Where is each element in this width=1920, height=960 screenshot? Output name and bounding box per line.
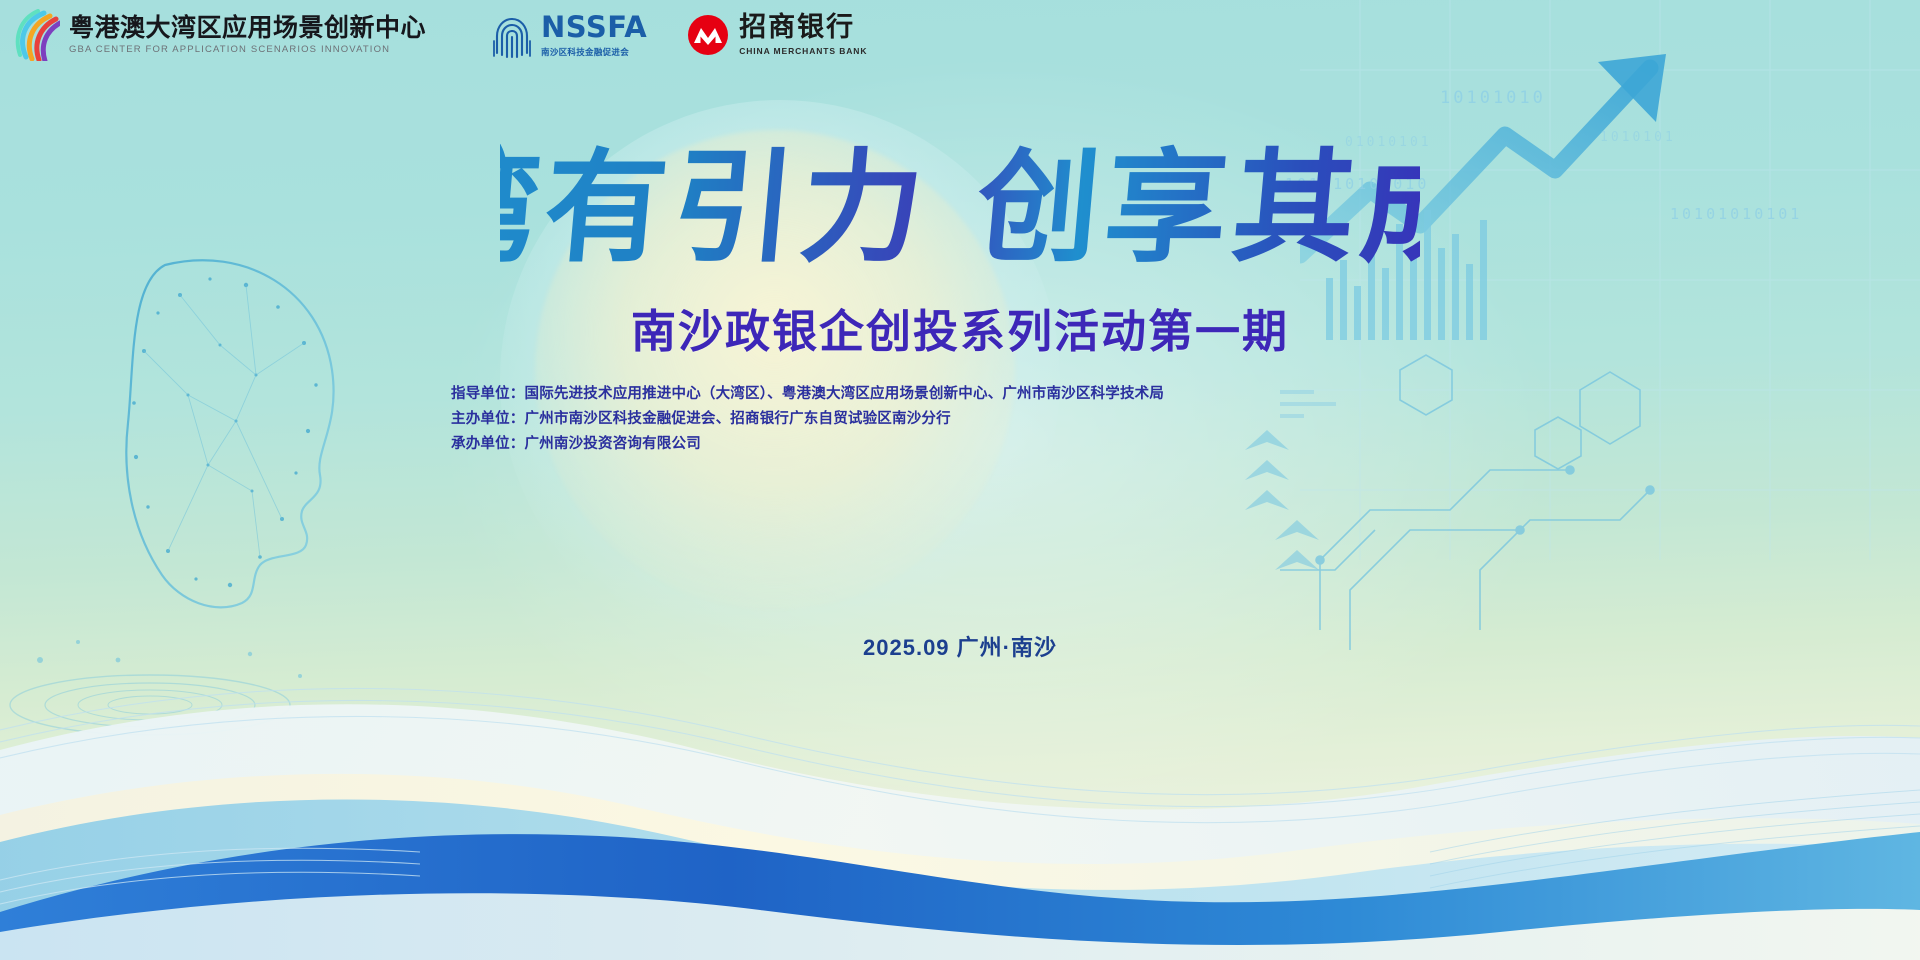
svg-text:湾有引力 创享其成: 湾有引力 创享其成: [500, 135, 1420, 279]
hero-title: 湾有引力 创享其成: [0, 128, 1920, 293]
organizer-line-host: 主办单位：广州市南沙区科技金融促进会、招商银行广东自贸试验区南沙分行: [451, 407, 1164, 432]
hero-subtitle: 南沙政银企创投系列活动第一期: [0, 295, 1920, 360]
poster-canvas: 10101010 101010101010 1010101 01010101 1…: [0, 0, 1920, 960]
logo-bar: 粤港澳大湾区应用场景创新中心 GBA CENTER FOR APPLICATIO…: [0, 0, 1920, 70]
nssfa-subtitle: 南沙区科技金融促进会: [541, 46, 647, 58]
cmb-title-en: CHINA MERCHANTS BANK: [739, 46, 867, 56]
gba-title-en: GBA CENTER FOR APPLICATION SCENARIOS INN…: [69, 44, 426, 55]
gba-title-cn: 粤港澳大湾区应用场景创新中心: [69, 15, 426, 41]
hero-title-calligraphy: 湾有引力 创享其成: [500, 128, 1420, 293]
organizer-label: 指导单位：: [451, 386, 525, 402]
organizer-line-guidance: 指导单位：国际先进技术应用推进中心（大湾区）、粤港澳大湾区应用场景创新中心、广州…: [451, 382, 1164, 407]
fingerprint-icon: [492, 11, 532, 59]
logo-nssfa[interactable]: NSSFA 南沙区科技金融促进会: [492, 11, 647, 59]
organizer-label: 承办单位：: [451, 436, 525, 452]
organizer-block: 指导单位：国际先进技术应用推进中心（大湾区）、粤港澳大湾区应用场景创新中心、广州…: [451, 382, 1164, 457]
date-location: 2025.09 广州·南沙: [0, 630, 1920, 662]
organizer-label: 主办单位：: [451, 411, 525, 427]
organizer-value: 广州市南沙区科技金融促进会、招商银行广东自贸试验区南沙分行: [525, 411, 951, 427]
organizer-value: 广州南沙投资咨询有限公司: [525, 436, 701, 452]
organizer-value: 国际先进技术应用推进中心（大湾区）、粤港澳大湾区应用场景创新中心、广州市南沙区科…: [525, 386, 1165, 402]
organizer-line-organizer: 承办单位：广州南沙投资咨询有限公司: [451, 432, 1164, 457]
rainbow-arc-icon: [14, 9, 60, 61]
binary-decor: 10101010: [1440, 88, 1546, 108]
logo-china-merchants-bank[interactable]: 招商银行 CHINA MERCHANTS BANK: [687, 14, 867, 56]
logo-gba-center[interactable]: 粤港澳大湾区应用场景创新中心 GBA CENTER FOR APPLICATIO…: [14, 9, 426, 61]
cmb-logo-icon: [687, 14, 729, 56]
cmb-title-cn: 招商银行: [739, 14, 867, 41]
nssfa-title: NSSFA: [541, 13, 647, 42]
